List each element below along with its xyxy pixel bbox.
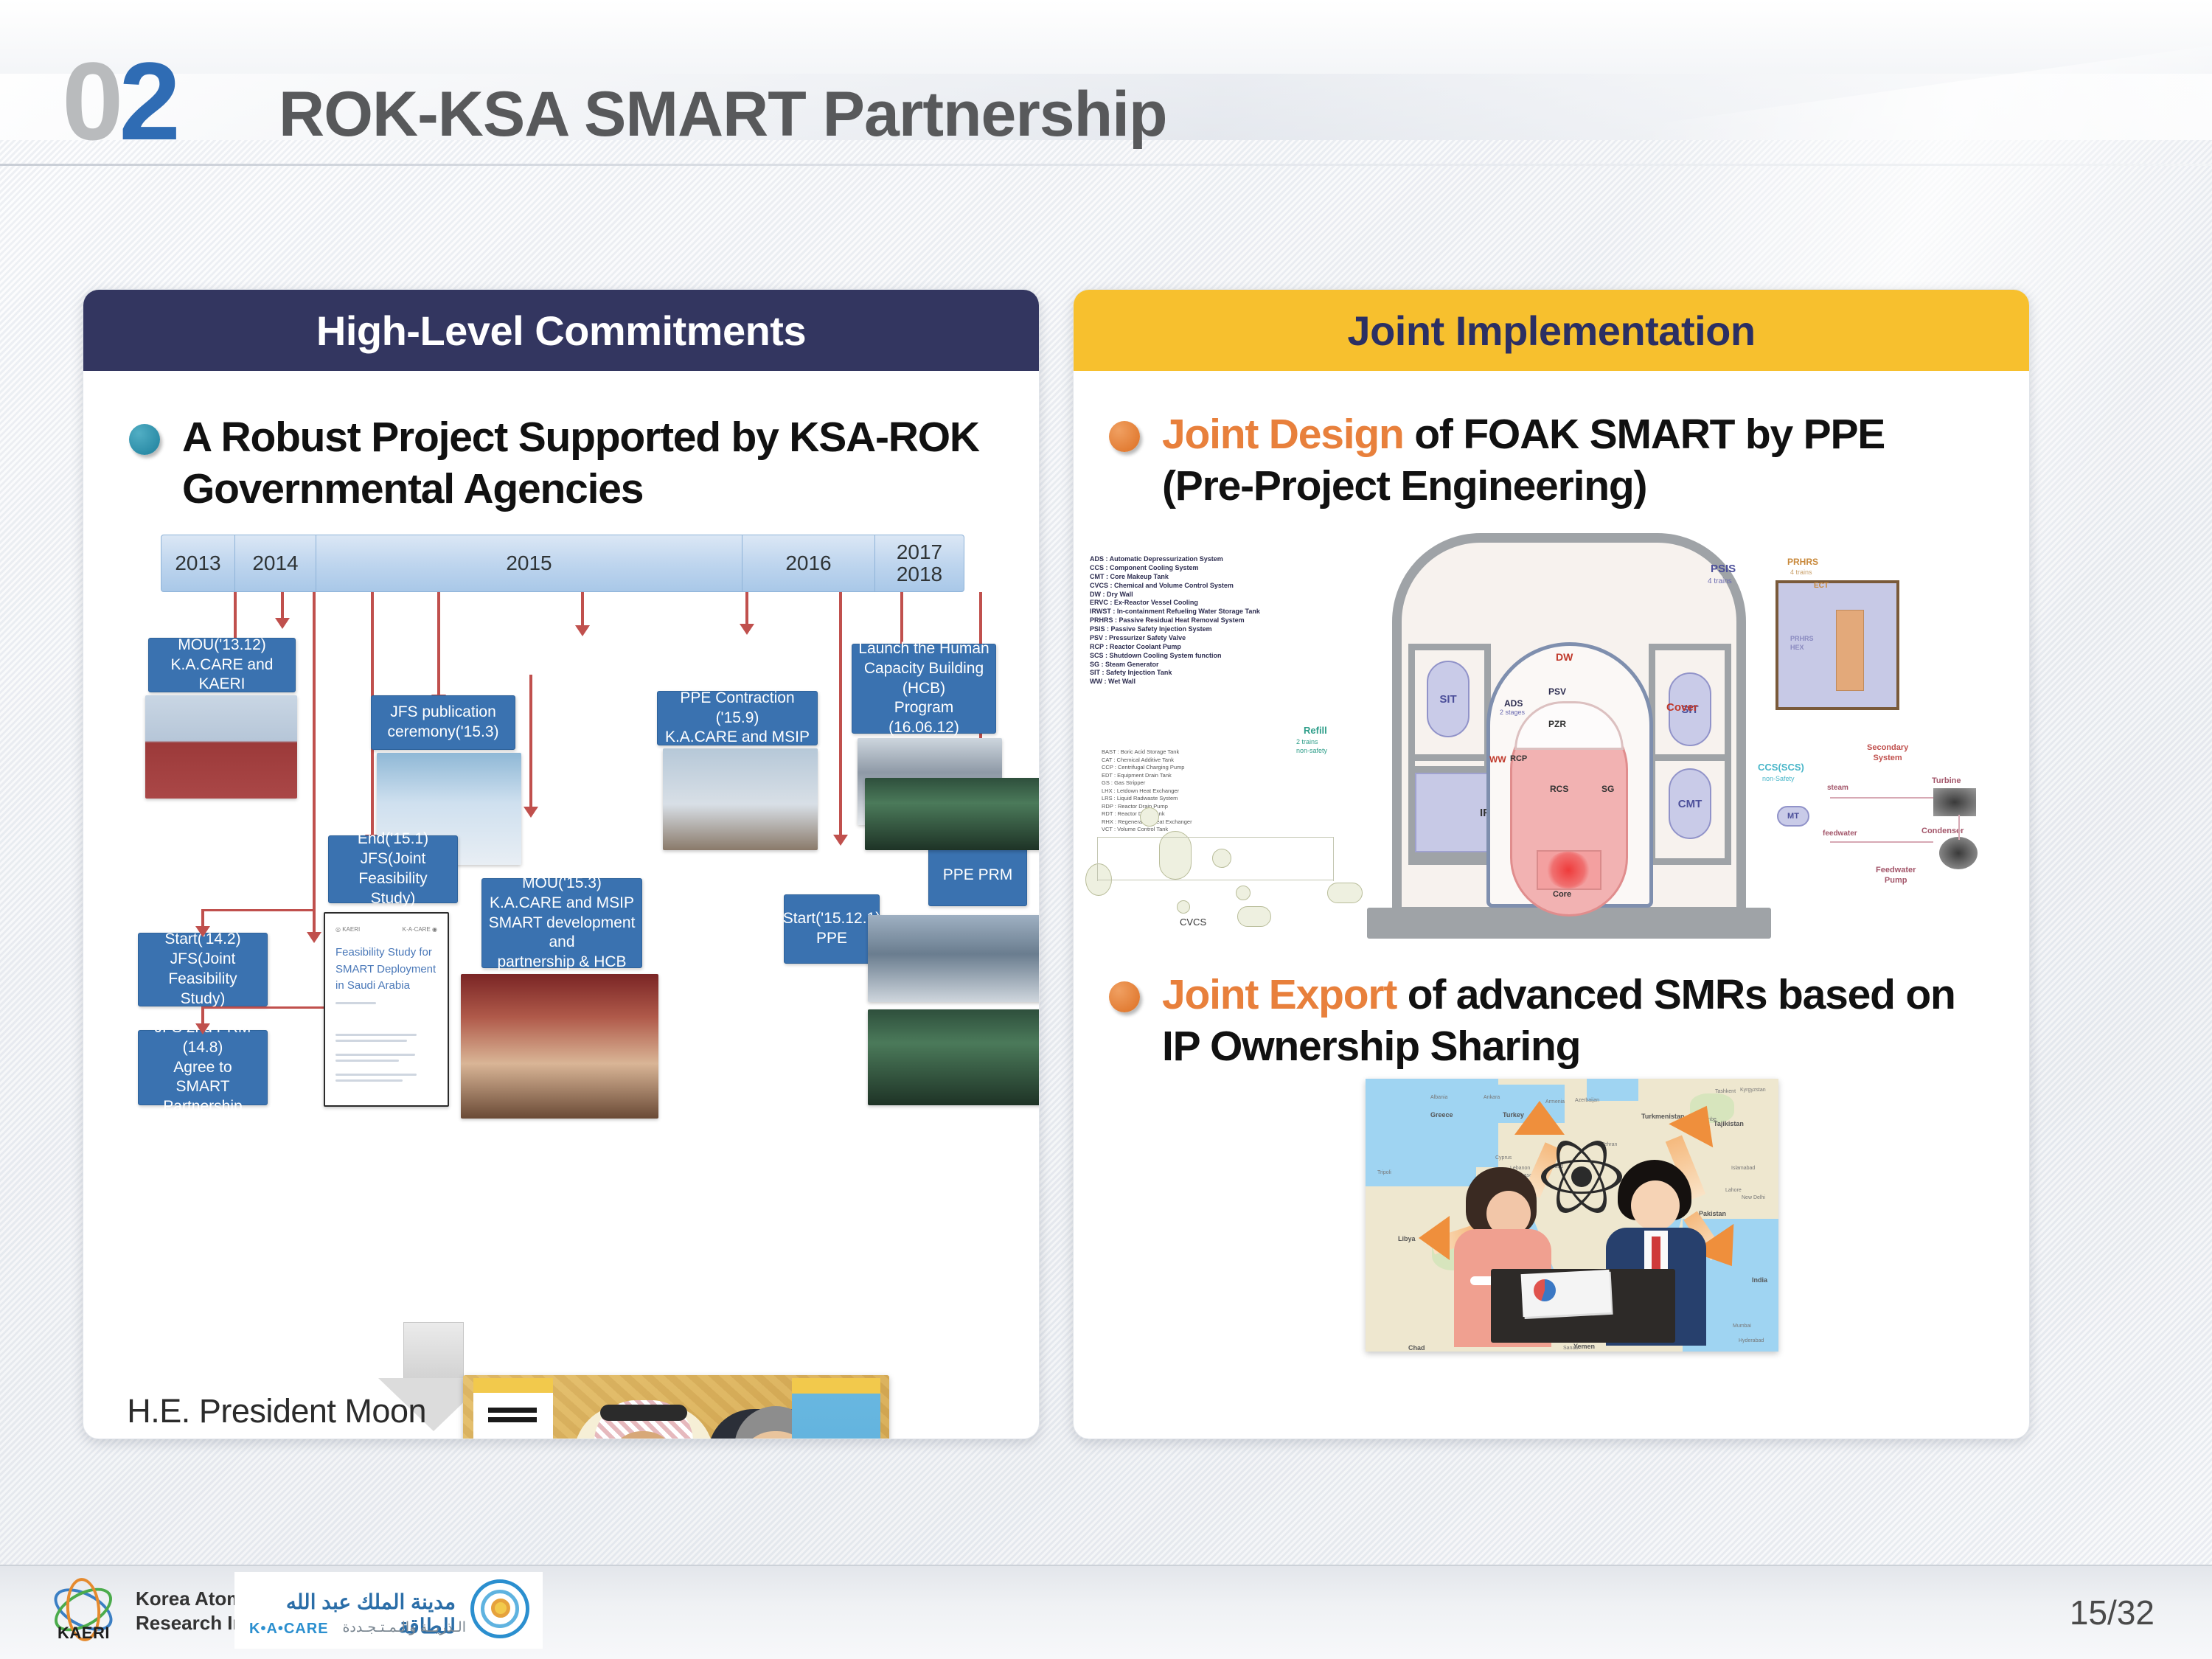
section-number-zero: 0 [62, 39, 119, 163]
map-label-hyderabad: Hyderabad [1739, 1338, 1764, 1343]
feasibility-study-document: ◎ KAERI K·A·CARE ◉ Feasibility Study for… [324, 912, 449, 1107]
right-panel-header: Joint Implementation [1074, 290, 2029, 371]
export-arrow-northwest [1514, 1101, 1565, 1135]
label-cmt-right: CMT [1669, 768, 1711, 839]
right-cmt-cell: CMT [1649, 754, 1731, 865]
label-feedwater-pump: FeedwaterPump [1876, 865, 1916, 886]
left-sit-cell: SIT [1408, 644, 1491, 762]
timeline-arrow-3 [437, 592, 440, 695]
export-arrow-west [1419, 1216, 1450, 1260]
timeline-year-2017-2018: 2017 2018 [875, 535, 964, 591]
timeline-box-mou-1312: MOU('13.12) K.A.CARE and KAERI [148, 638, 296, 692]
joint-export-accent: Joint Export [1162, 971, 1397, 1018]
smr-export-map-illustration: Turkey Greece Libya Chad Saudi Arabia Ye… [1366, 1079, 1778, 1352]
label-turbine: Turbine [1932, 776, 1961, 785]
label-ads: ADS [1504, 698, 1523, 709]
right-panel-header-label: Joint Implementation [1347, 307, 1755, 355]
prhrs-heat-exchanger [1836, 610, 1864, 691]
photo-ppe-signing [663, 748, 818, 850]
kacare-logo: مدينة الملك عبد الله للطاقة الـذريــة وا… [234, 1572, 543, 1649]
timeline-diagram: 2013 2014 2015 2016 2017 2018 MOU('13.12… [128, 535, 998, 1316]
timeline-box-jfs-publication: JFS publication ceremony('15.3) [371, 695, 515, 750]
photo-mou-signing [145, 695, 297, 799]
timeline-box-ppe-start: Start('15.12.1) PPE [784, 894, 880, 964]
right-bullet-joint-design: Joint Design of FOAK SMART by PPE (Pre-P… [1109, 409, 1986, 512]
prhrs-assembly: PRHRS 4 trains ECT PRHRSHEX [1768, 549, 1916, 719]
containment-vessel: SIT CMT SIT CMT IRWST Sparger [1392, 533, 1746, 917]
label-pzr: PZR [1548, 719, 1566, 729]
header-divider [0, 164, 2212, 166]
label-prhrs: PRHRS [1787, 557, 1818, 567]
joint-export-text: Joint Export of advanced SMRs based on I… [1162, 970, 1986, 1072]
map-label-sanaa: Sanaa [1563, 1346, 1578, 1351]
kacare-english-name: K•A•CARE [249, 1621, 329, 1638]
timeline-arrow-2 [281, 592, 284, 619]
map-label-chad: Chad [1408, 1344, 1425, 1352]
photo-signing-hall [461, 974, 658, 1119]
timeline-year-2013: 2013 [161, 535, 235, 591]
turbine-icon [1933, 788, 1976, 816]
label-psv: PSV [1548, 686, 1566, 697]
label-feedwater: feedwater [1823, 829, 1857, 838]
label-secondary-system: SecondarySystem [1867, 742, 1908, 764]
photo-moon-alfalih [463, 1375, 889, 1439]
label-cover: Cover [1666, 701, 1698, 714]
timeline-box-hcb-launch: Launch the Human Capacity Building (HCB)… [852, 644, 996, 734]
map-label-albania: Albania [1430, 1095, 1447, 1100]
timeline-arrow-13 [201, 1006, 204, 1024]
left-panel-header-label: High-Level Commitments [316, 307, 806, 355]
secondary-system: SecondarySystem Turbine Condenser Feedwa… [1820, 741, 2011, 911]
map-label-tripoli: Tripoli [1377, 1170, 1391, 1175]
label-prhrs-trains: 4 trains [1790, 568, 1812, 576]
moon-alfalih-caption: H.E. President Moon & H.E. Minister Al-F… [83, 1390, 426, 1439]
label-prhrs-hex: PRHRSHEX [1790, 635, 1814, 652]
label-ww: WW [1489, 754, 1506, 765]
core-heat-icon [1545, 852, 1591, 888]
map-label-ankara: Ankara [1484, 1095, 1500, 1100]
label-dw: DW [1556, 651, 1573, 663]
document-title: Feasibility Study for SMART Deployment i… [335, 945, 437, 995]
vct-tank [1159, 831, 1192, 880]
edt-tank [1327, 883, 1363, 903]
ccp-pump [1236, 886, 1251, 900]
korea-flag [473, 1378, 553, 1439]
map-label-kyrgyzstan: Kyrgyzstan [1740, 1088, 1766, 1093]
joint-design-text: Joint Design of FOAK SMART by PPE (Pre-P… [1162, 409, 1986, 512]
label-mt: MT [1777, 806, 1809, 827]
cat-tank [1212, 849, 1231, 868]
timeline-arrow-12 [201, 909, 204, 927]
label-psis-trains: 4 trains [1708, 577, 1732, 585]
map-label-islamabad: Islamabad [1731, 1166, 1755, 1171]
label-refill: Refill [1304, 725, 1327, 736]
schematic-legend: ADS : Automatic Depressurization SystemC… [1090, 555, 1260, 686]
label-psis: PSIS [1711, 563, 1736, 575]
label-ccs-scs: CCS(SCS) [1758, 762, 1804, 773]
map-label-mumbai: Mumbai [1733, 1324, 1751, 1329]
timeline-box-jfs-end: End('15.1) JFS(Joint Feasibility Study) [328, 835, 458, 903]
timeline-elbow-1 [203, 909, 313, 911]
section-number-two: 2 [119, 39, 175, 163]
label-rcp: RCP [1510, 754, 1527, 763]
right-bullet-joint-export: Joint Export of advanced SMRs based on I… [1109, 970, 1986, 1072]
label-ccs-nonsafety: non-Safety [1762, 775, 1795, 782]
rdp-pump [1177, 900, 1190, 914]
presidential-standard-flag [792, 1378, 880, 1439]
timeline-box-mou-153: MOU('15.3) K.A.CARE and MSIP SMART devel… [481, 878, 642, 968]
document-rule [335, 1002, 376, 1004]
label-ect: ECT [1814, 582, 1829, 590]
label-rcs: RCS [1550, 784, 1568, 794]
label-condenser: Condenser [1921, 827, 1964, 835]
timeline-arrow-6 [900, 592, 903, 645]
left-panel-body: A Robust Project Supported by KSA-ROK Go… [83, 371, 1039, 1439]
label-steam: steam [1827, 784, 1848, 792]
left-bullet: A Robust Project Supported by KSA-ROK Go… [129, 412, 984, 515]
timeline-box-jfs-start: Start('14.2) JFS(Joint Feasibility Study… [138, 933, 268, 1006]
photo-ppe-review-group-1 [865, 778, 1040, 850]
section-number: 02 [62, 46, 176, 156]
timeline-year-2015: 2015 [316, 535, 742, 591]
left-bullet-text: A Robust Project Supported by KSA-ROK Go… [182, 412, 984, 515]
photo-ppe-review-group-3 [868, 1009, 1040, 1105]
gs-unit [1140, 807, 1159, 827]
map-label-lahore: Lahore [1725, 1188, 1742, 1193]
page-title: ROK-KSA SMART Partnership [279, 83, 1167, 146]
kaeri-wordmark: KAERI [58, 1624, 110, 1643]
timeline-box-jfs-2nd-prm: JFS 2nd PRM (14.8) Agree to SMART Partne… [138, 1030, 268, 1105]
timeline-year-bar: 2013 2014 2015 2016 2017 2018 [161, 535, 964, 592]
timeline-arrow-9 [313, 592, 316, 933]
rdt-tank [1237, 906, 1271, 927]
timeline-arrow-5 [745, 592, 748, 625]
document-content: ◎ KAERI K·A·CARE ◉ Feasibility Study for… [325, 914, 448, 1097]
label-ads-stages: 2 stages [1500, 709, 1525, 716]
label-sit-left: SIT [1427, 661, 1470, 737]
photo-ppe-review-group-2 [868, 915, 1040, 1002]
map-label-new-delhi: New Delhi [1742, 1195, 1765, 1200]
kacare-arabic-name2: الـذريــة والـمـتـجـددة [342, 1619, 466, 1636]
cvcs-system: CVCS [1082, 793, 1399, 933]
timeline-arrow-1 [234, 592, 237, 639]
map-label-libya: Libya [1398, 1235, 1416, 1242]
map-label-india: India [1752, 1276, 1767, 1284]
left-panel-header: High-Level Commitments [83, 290, 1039, 371]
slide-header: 02 ROK-KSA SMART Partnership [0, 71, 2212, 165]
map-label-cyprus: Cyprus [1495, 1155, 1512, 1161]
bullet-dot-icon [1109, 981, 1140, 1012]
timeline-arrow-4 [581, 592, 584, 626]
label-refill-trains: 2 trainsnon-safety [1296, 738, 1327, 755]
label-cvcs: CVCS [1180, 917, 1206, 928]
map-label-greece: Greece [1430, 1111, 1453, 1119]
timeline-year-2016: 2016 [742, 535, 875, 591]
joint-implementation-panel: Joint Implementation Joint Design of FOA… [1073, 289, 2030, 1439]
timeline-elbow-2 [203, 1006, 327, 1009]
map-label-azerbaijan: Azerbaijan [1575, 1098, 1599, 1103]
timeline-arrow-8 [839, 592, 842, 835]
document-logo-right: K·A·CARE ◉ [403, 925, 437, 934]
map-label-tashkent: Tashkent [1715, 1089, 1736, 1094]
smart-reactor-schematic: ADS : Automatic Depressurization SystemC… [1082, 527, 2019, 940]
page-number: 15/32 [2070, 1593, 2154, 1632]
document-logo-left: ◎ KAERI [335, 925, 360, 934]
bullet-dot-icon [1109, 421, 1140, 452]
condenser-icon [1939, 837, 1978, 869]
pie-chart-icon [1534, 1279, 1556, 1301]
right-panel-body: Joint Design of FOAK SMART by PPE (Pre-P… [1074, 371, 2029, 1439]
kacare-mark-icon [470, 1579, 532, 1641]
joint-design-accent: Joint Design [1162, 411, 1404, 458]
timeline-year-2014: 2014 [235, 535, 316, 591]
bullet-dot-icon [129, 424, 160, 455]
label-sg: SG [1601, 784, 1614, 794]
timeline-arrow-11 [529, 675, 532, 807]
high-level-commitments-panel: High-Level Commitments A Robust Project … [83, 289, 1040, 1439]
timeline-box-ppe-prm: PPE PRM [928, 844, 1027, 906]
timeline-box-ppe-contraction: PPE Contraction ('15.9) K.A.CARE and MSI… [657, 691, 818, 745]
label-core: Core [1553, 890, 1571, 899]
